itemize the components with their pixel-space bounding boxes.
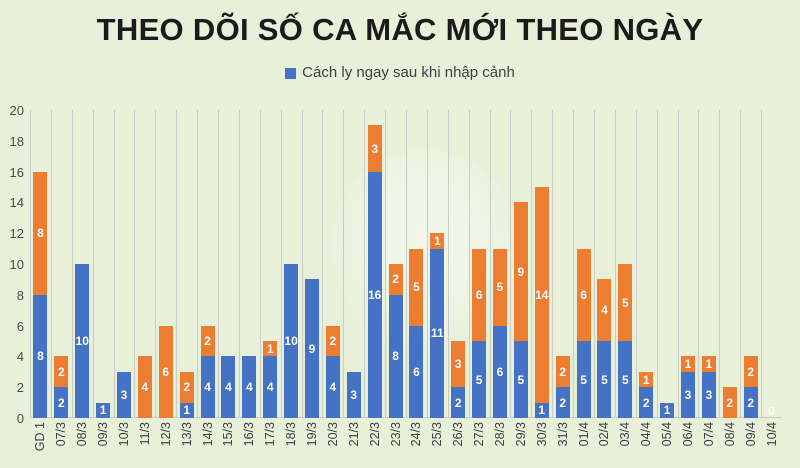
x-axis-tick-label: 10/3 bbox=[114, 420, 135, 466]
bar-segment-blue[interactable]: 4 bbox=[201, 356, 215, 418]
bar-group[interactable]: 1 bbox=[660, 110, 674, 418]
bar-segment-blue[interactable]: 5 bbox=[618, 341, 632, 418]
x-axis-tick-label: 29/3 bbox=[510, 420, 531, 466]
bar-segment-blue[interactable]: 3 bbox=[117, 372, 131, 418]
x-axis-tick-label: 02/4 bbox=[594, 420, 615, 466]
bar-segment-value-label: 3 bbox=[121, 389, 128, 401]
x-axis-tick-label: 03/4 bbox=[615, 420, 636, 466]
bar-segment-blue[interactable]: 4 bbox=[221, 356, 235, 418]
bar-segment-blue[interactable]: 2 bbox=[639, 387, 653, 418]
bar-group[interactable]: 31 bbox=[702, 110, 716, 418]
bar-group[interactable]: 2 bbox=[723, 110, 737, 418]
x-axis-tick-label: 17/3 bbox=[260, 420, 281, 466]
bar-group[interactable]: 4 bbox=[242, 110, 256, 418]
bar-segment-value-label: 2 bbox=[392, 273, 399, 285]
x-axis-tick-text: 07/3 bbox=[55, 422, 68, 446]
bar-zero-value-label: 0 bbox=[765, 405, 779, 417]
bar-segment-value-label: 1 bbox=[664, 404, 671, 416]
bar-group[interactable]: 3 bbox=[117, 110, 131, 418]
bar-segment-value-label: 1 bbox=[100, 404, 107, 416]
bar-segment-value-label: 2 bbox=[747, 397, 754, 409]
y-axis-labels: 02468101214161820 bbox=[0, 110, 24, 418]
x-axis-tick-text: 14/3 bbox=[201, 422, 214, 446]
bar-group[interactable]: 163 bbox=[368, 110, 382, 418]
bar-segment-orange[interactable]: 2 bbox=[556, 356, 570, 387]
x-axis-tick-text: 15/3 bbox=[222, 422, 235, 446]
bar-group[interactable]: 0 bbox=[765, 110, 779, 418]
bar-segment-value-label: 8 bbox=[392, 350, 399, 362]
bar-segment-value-label: 6 bbox=[162, 366, 169, 378]
bar-segment-value-label: 1 bbox=[643, 374, 650, 386]
bar-segment-blue[interactable]: 9 bbox=[305, 279, 319, 418]
bar-segment-orange[interactable]: 5 bbox=[409, 249, 423, 326]
x-axis-tick-text: 12/3 bbox=[160, 422, 173, 446]
bar-group[interactable]: 56 bbox=[472, 110, 486, 418]
x-axis-tick-label: 19/3 bbox=[302, 420, 323, 466]
bar-group[interactable]: 10 bbox=[284, 110, 298, 418]
bar-segment-blue[interactable]: 1 bbox=[180, 403, 194, 418]
bar-group[interactable]: 4 bbox=[221, 110, 235, 418]
x-axis-tick-label: 07/3 bbox=[51, 420, 72, 466]
bar-group[interactable]: 12 bbox=[180, 110, 194, 418]
chart-title: THEO DÕI SỐ CA MẮC MỚI THEO NGÀY bbox=[0, 11, 800, 49]
bar-group[interactable]: 65 bbox=[493, 110, 507, 418]
bar-segment-value-label: 5 bbox=[622, 374, 629, 386]
bar-segment-value-label: 3 bbox=[685, 389, 692, 401]
x-axis-tick-text: 11/3 bbox=[139, 422, 152, 445]
bar-segment-value-label: 5 bbox=[497, 281, 504, 293]
bar-group[interactable]: 22 bbox=[744, 110, 758, 418]
bar-group[interactable]: 23 bbox=[451, 110, 465, 418]
bar-segment-value-label: 3 bbox=[455, 358, 462, 370]
bar-group[interactable]: 55 bbox=[618, 110, 632, 418]
y-axis-tick-label: 4 bbox=[0, 350, 24, 363]
x-axis-tick-text: 31/3 bbox=[556, 422, 569, 446]
x-axis-tick-label: 30/3 bbox=[531, 420, 552, 466]
bar-segment-blue[interactable]: 6 bbox=[409, 326, 423, 418]
bar-segment-blue[interactable]: 5 bbox=[514, 341, 528, 418]
x-axis-tick-label: 22/3 bbox=[364, 420, 385, 466]
bar-group[interactable]: 42 bbox=[201, 110, 215, 418]
bar-segment-value-label: 8 bbox=[37, 227, 44, 239]
y-axis-tick-label: 12 bbox=[0, 227, 24, 240]
x-axis-tick-label: 24/3 bbox=[406, 420, 427, 466]
bar-segment-value-label: 5 bbox=[580, 374, 587, 386]
bar-segment-value-label: 1 bbox=[538, 404, 545, 416]
x-axis-tick-text: 26/3 bbox=[452, 422, 465, 446]
bar-segment-orange[interactable]: 1 bbox=[681, 356, 695, 371]
y-axis-tick-label: 14 bbox=[0, 196, 24, 209]
bar-segment-value-label: 4 bbox=[330, 381, 337, 393]
bar-segment-value-label: 4 bbox=[204, 381, 211, 393]
bar-segment-blue[interactable]: 2 bbox=[556, 387, 570, 418]
x-axis-tick-text: 07/4 bbox=[703, 422, 716, 446]
bar-group[interactable]: 1 bbox=[96, 110, 110, 418]
bar-segment-value-label: 10 bbox=[76, 335, 89, 347]
x-axis-tick-label: 28/3 bbox=[490, 420, 511, 466]
bar-segment-value-label: 1 bbox=[183, 404, 190, 416]
x-axis-tick-label: 11/3 bbox=[134, 420, 155, 466]
x-axis-tick-label: 09/4 bbox=[740, 420, 761, 466]
bar-group[interactable]: 22 bbox=[54, 110, 68, 418]
y-axis-tick-label: 10 bbox=[0, 258, 24, 271]
bar-segment-value-label: 2 bbox=[559, 366, 566, 378]
bar-segment-value-label: 1 bbox=[685, 358, 692, 370]
bar-segment-orange[interactable]: 9 bbox=[514, 202, 528, 341]
plot-area: 8822101346124244411094231638265111235665… bbox=[30, 110, 782, 418]
y-axis-tick-label: 18 bbox=[0, 135, 24, 148]
x-axis-tick-text: 19/3 bbox=[306, 422, 319, 446]
bar-group[interactable]: 65 bbox=[409, 110, 423, 418]
bar-segment-value-label: 6 bbox=[476, 289, 483, 301]
x-axis-tick-text: 08/3 bbox=[76, 422, 89, 446]
bar-segment-blue[interactable]: 4 bbox=[326, 356, 340, 418]
bar-segment-blue[interactable]: 2 bbox=[54, 387, 68, 418]
bar-segment-value-label: 6 bbox=[413, 366, 420, 378]
y-axis-tick-label: 8 bbox=[0, 289, 24, 302]
bar-segment-blue[interactable]: 2 bbox=[744, 387, 758, 418]
bar-segment-blue[interactable]: 10 bbox=[284, 264, 298, 418]
bar-segment-value-label: 2 bbox=[747, 366, 754, 378]
bar-group[interactable]: 9 bbox=[305, 110, 319, 418]
bar-segment-value-label: 4 bbox=[246, 381, 253, 393]
x-axis-tick-label: 08/3 bbox=[72, 420, 93, 466]
bar-group[interactable]: 111 bbox=[430, 110, 444, 418]
x-axis-tick-text: 10/4 bbox=[765, 422, 778, 446]
bar-segment-blue[interactable]: 3 bbox=[702, 372, 716, 418]
x-axis-tick-text: 17/3 bbox=[264, 422, 277, 446]
x-axis-tick-label: 31/3 bbox=[552, 420, 573, 466]
y-axis-tick-label: 2 bbox=[0, 381, 24, 394]
bar-segment-blue[interactable]: 1 bbox=[96, 403, 110, 418]
bar-segment-value-label: 2 bbox=[455, 397, 462, 409]
bar-segment-value-label: 14 bbox=[535, 289, 548, 301]
bar-segment-value-label: 9 bbox=[309, 343, 316, 355]
bar-segment-value-label: 2 bbox=[330, 335, 337, 347]
chart-legend: Cách ly ngay sau khi nhập cảnh bbox=[0, 64, 800, 82]
x-axis-tick-text: 09/4 bbox=[744, 422, 757, 446]
bar-segment-value-label: 11 bbox=[431, 327, 444, 339]
x-axis-tick-text: 09/3 bbox=[97, 422, 110, 446]
bar-segment-blue[interactable]: 5 bbox=[577, 341, 591, 418]
x-axis-tick-text: 30/3 bbox=[536, 422, 549, 446]
bar-segment-blue[interactable]: 1 bbox=[660, 403, 674, 418]
x-axis-tick-label: 25/3 bbox=[427, 420, 448, 466]
x-axis-tick-label: 01/4 bbox=[573, 420, 594, 466]
x-axis-tick-label: 05/4 bbox=[657, 420, 678, 466]
x-axis-tick-text: 16/3 bbox=[243, 422, 256, 446]
bar-segment-orange[interactable]: 6 bbox=[577, 249, 591, 341]
bar-segment-blue[interactable]: 4 bbox=[242, 356, 256, 418]
bar-segment-blue[interactable]: 8 bbox=[389, 295, 403, 418]
bar-segment-value-label: 2 bbox=[183, 381, 190, 393]
bar-segment-orange[interactable]: 6 bbox=[159, 326, 173, 418]
x-axis-labels: GD 107/308/309/310/311/312/313/314/315/3… bbox=[30, 420, 782, 466]
x-axis-tick-text: 13/3 bbox=[180, 422, 193, 446]
y-axis-tick-label: 6 bbox=[0, 320, 24, 333]
x-axis-tick-label: 14/3 bbox=[197, 420, 218, 466]
bar-segment-blue[interactable]: 10 bbox=[75, 264, 89, 418]
x-axis-tick-text: 20/3 bbox=[327, 422, 340, 446]
bar-segment-value-label: 8 bbox=[37, 350, 44, 362]
bar-segment-orange[interactable]: 5 bbox=[493, 249, 507, 326]
bar-group[interactable]: 10 bbox=[75, 110, 89, 418]
y-axis-tick-label: 16 bbox=[0, 166, 24, 179]
bar-segment-orange[interactable]: 14 bbox=[535, 187, 549, 403]
bar-segment-value-label: 1 bbox=[706, 358, 713, 370]
bar-segment-value-label: 1 bbox=[267, 343, 274, 355]
bar-group[interactable]: 114 bbox=[535, 110, 549, 418]
bar-segment-orange[interactable]: 5 bbox=[618, 264, 632, 341]
bar-segment-orange[interactable]: 2 bbox=[744, 356, 758, 387]
bar-segment-value-label: 10 bbox=[284, 335, 297, 347]
bar-group[interactable]: 59 bbox=[514, 110, 528, 418]
bar-segment-orange[interactable]: 2 bbox=[180, 372, 194, 403]
x-axis-tick-text: 02/4 bbox=[598, 422, 611, 446]
x-axis-tick-text: 23/3 bbox=[389, 422, 402, 446]
bar-segment-value-label: 5 bbox=[518, 374, 525, 386]
bar-segment-value-label: 3 bbox=[350, 389, 357, 401]
x-axis-tick-label: 18/3 bbox=[281, 420, 302, 466]
bar-segment-blue[interactable]: 16 bbox=[368, 172, 382, 418]
bar-segment-orange[interactable]: 2 bbox=[723, 387, 737, 418]
x-axis-tick-text: 03/4 bbox=[619, 422, 632, 446]
bar-segment-blue[interactable]: 11 bbox=[430, 249, 444, 418]
y-axis-tick-label: 20 bbox=[0, 104, 24, 117]
bar-group[interactable]: 21 bbox=[639, 110, 653, 418]
x-axis-tick-text: 24/3 bbox=[410, 422, 423, 446]
bar-segment-blue[interactable]: 3 bbox=[681, 372, 695, 418]
x-axis-tick-text: 01/4 bbox=[577, 422, 590, 446]
bar-segment-orange[interactable]: 1 bbox=[430, 233, 444, 248]
x-axis-tick-text: 18/3 bbox=[285, 422, 298, 446]
bar-group[interactable]: 54 bbox=[597, 110, 611, 418]
bar-segment-value-label: 6 bbox=[497, 366, 504, 378]
x-axis-tick-text: 25/3 bbox=[431, 422, 444, 446]
bar-segment-value-label: 2 bbox=[726, 397, 733, 409]
bar-segment-value-label: 1 bbox=[434, 235, 441, 247]
x-axis-tick-text: 22/3 bbox=[368, 422, 381, 446]
x-axis-tick-text: 04/4 bbox=[640, 422, 653, 446]
x-axis-tick-label: 20/3 bbox=[322, 420, 343, 466]
x-axis-tick-text: GD 1 bbox=[34, 422, 47, 451]
legend-square-marker-icon bbox=[285, 68, 296, 79]
bar-segment-blue[interactable]: 1 bbox=[535, 403, 549, 418]
bar-segment-value-label: 5 bbox=[476, 374, 483, 386]
x-axis-tick-text: 06/4 bbox=[682, 422, 695, 446]
bar-segment-value-label: 5 bbox=[622, 297, 629, 309]
x-axis-tick-label: 10/4 bbox=[761, 420, 782, 466]
bar-segment-value-label: 2 bbox=[58, 366, 65, 378]
x-axis-tick-label: 13/3 bbox=[176, 420, 197, 466]
bar-group[interactable]: 88 bbox=[33, 110, 47, 418]
bar-group[interactable]: 6 bbox=[159, 110, 173, 418]
bar-segment-orange[interactable]: 2 bbox=[389, 264, 403, 295]
x-axis-tick-label: 23/3 bbox=[385, 420, 406, 466]
bar-segment-value-label: 5 bbox=[413, 281, 420, 293]
x-axis-tick-label: 15/3 bbox=[218, 420, 239, 466]
x-axis-tick-label: 27/3 bbox=[469, 420, 490, 466]
x-axis-tick-label: 12/3 bbox=[155, 420, 176, 466]
x-axis-tick-label: GD 1 bbox=[30, 420, 51, 466]
bar-group[interactable]: 42 bbox=[326, 110, 340, 418]
x-axis-tick-text: 28/3 bbox=[494, 422, 507, 446]
bar-segment-orange[interactable]: 1 bbox=[263, 341, 277, 356]
x-axis-tick-text: 21/3 bbox=[348, 422, 361, 446]
bar-segment-blue[interactable]: 4 bbox=[263, 356, 277, 418]
bar-segment-blue[interactable]: 2 bbox=[451, 387, 465, 418]
bar-segment-value-label: 4 bbox=[225, 381, 232, 393]
bar-segment-orange[interactable]: 2 bbox=[201, 326, 215, 357]
bar-group[interactable]: 4 bbox=[138, 110, 152, 418]
x-axis-tick-text: 08/4 bbox=[724, 422, 737, 446]
bar-segment-orange[interactable]: 4 bbox=[138, 356, 152, 418]
bar-segment-orange[interactable]: 2 bbox=[326, 326, 340, 357]
bar-segment-value-label: 4 bbox=[142, 381, 149, 393]
bar-segment-orange[interactable]: 8 bbox=[33, 172, 47, 295]
y-axis-tick-label: 0 bbox=[0, 412, 24, 425]
bar-segment-orange[interactable]: 2 bbox=[54, 356, 68, 387]
bar-segment-blue[interactable]: 5 bbox=[597, 341, 611, 418]
bar-group[interactable]: 41 bbox=[263, 110, 277, 418]
x-axis-tick-text: 27/3 bbox=[473, 422, 486, 446]
bar-segment-orange[interactable]: 1 bbox=[639, 372, 653, 387]
bar-group[interactable]: 82 bbox=[389, 110, 403, 418]
bar-segment-orange[interactable]: 3 bbox=[451, 341, 465, 387]
x-axis-tick-label: 09/3 bbox=[93, 420, 114, 466]
bar-segment-orange[interactable]: 6 bbox=[472, 249, 486, 341]
x-axis-tick-text: 10/3 bbox=[118, 422, 131, 446]
bar-segment-value-label: 2 bbox=[204, 335, 211, 347]
bar-segment-blue[interactable]: 6 bbox=[493, 326, 507, 418]
bar-segment-value-label: 2 bbox=[643, 397, 650, 409]
bar-segment-value-label: 6 bbox=[580, 289, 587, 301]
bar-segment-value-label: 4 bbox=[601, 304, 608, 316]
bar-segment-value-label: 5 bbox=[601, 374, 608, 386]
x-axis-tick-label: 08/4 bbox=[719, 420, 740, 466]
legend-item-label: Cách ly ngay sau khi nhập cảnh bbox=[302, 64, 515, 82]
bar-segment-blue[interactable]: 5 bbox=[472, 341, 486, 418]
bar-segment-value-label: 3 bbox=[706, 389, 713, 401]
x-axis-tick-label: 26/3 bbox=[448, 420, 469, 466]
bar-segment-blue[interactable]: 3 bbox=[347, 372, 361, 418]
x-axis-tick-text: 05/4 bbox=[661, 422, 674, 446]
bar-segment-orange[interactable]: 3 bbox=[368, 125, 382, 171]
bars-layer: 8822101346124244411094231638265111235665… bbox=[30, 110, 782, 418]
bar-segment-value-label: 2 bbox=[559, 397, 566, 409]
bar-group[interactable]: 3 bbox=[347, 110, 361, 418]
bar-segment-value-label: 3 bbox=[371, 143, 378, 155]
bar-segment-blue[interactable]: 8 bbox=[33, 295, 47, 418]
bar-segment-orange[interactable]: 1 bbox=[702, 356, 716, 371]
bar-segment-value-label: 16 bbox=[368, 289, 381, 301]
bar-segment-value-label: 4 bbox=[267, 381, 274, 393]
x-axis-tick-label: 16/3 bbox=[239, 420, 260, 466]
bar-segment-value-label: 2 bbox=[58, 397, 65, 409]
chart-container: THEO DÕI SỐ CA MẮC MỚI THEO NGÀY Cách ly… bbox=[0, 0, 800, 468]
x-axis-tick-text: 29/3 bbox=[515, 422, 528, 446]
bar-segment-orange[interactable]: 4 bbox=[597, 279, 611, 341]
x-axis-tick-label: 04/4 bbox=[636, 420, 657, 466]
x-axis-tick-label: 21/3 bbox=[343, 420, 364, 466]
x-axis-tick-label: 06/4 bbox=[678, 420, 699, 466]
bar-group[interactable]: 56 bbox=[577, 110, 591, 418]
bar-segment-value-label: 9 bbox=[518, 266, 525, 278]
bar-group[interactable]: 31 bbox=[681, 110, 695, 418]
x-axis-tick-label: 07/4 bbox=[698, 420, 719, 466]
bar-group[interactable]: 22 bbox=[556, 110, 570, 418]
